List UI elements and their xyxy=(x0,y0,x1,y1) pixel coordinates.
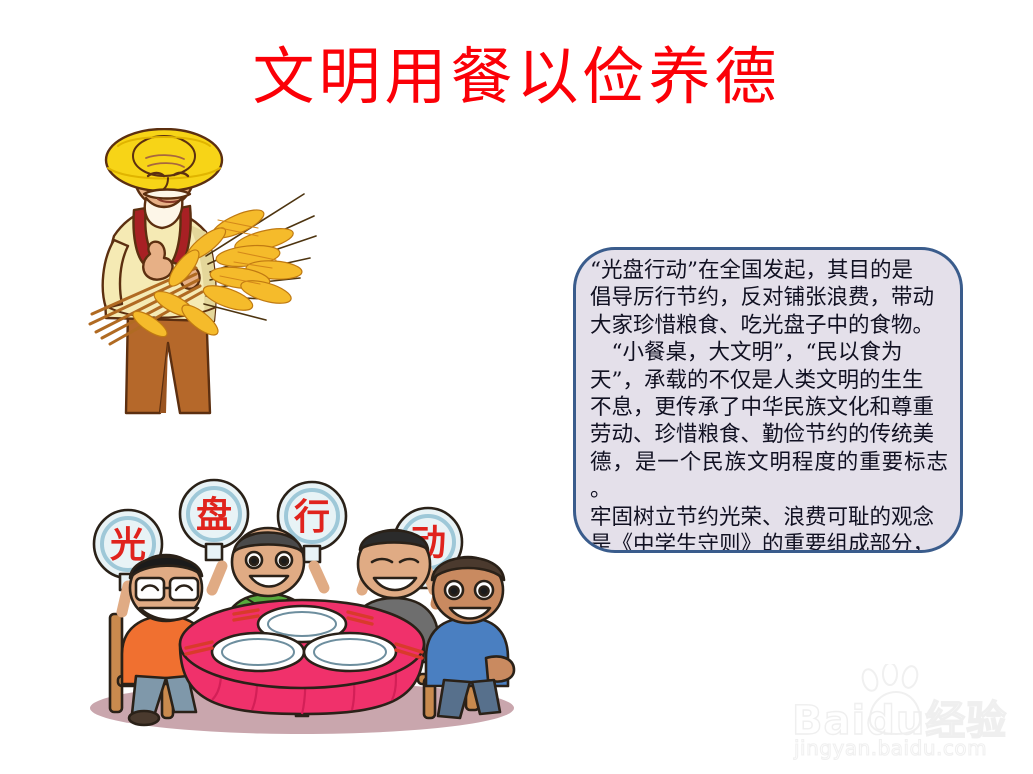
baidu-watermark: Baidu经验 jingyan.baidu.com xyxy=(784,664,1024,768)
watermark-url: jingyan.baidu.com xyxy=(794,736,987,760)
textbox-line: 不息，更传承了中华民族文化和尊重 xyxy=(590,394,948,421)
page-title: 文明用餐以俭养德 xyxy=(0,44,1033,110)
textbox-line: 牢固树立节约光荣、浪费可耻的观念 xyxy=(590,504,948,531)
textbox-line: 劳动、珍惜粮食、勤俭节约的传统美 xyxy=(590,421,948,448)
textbox-line: “小餐桌，大文明”，“民以食为 xyxy=(590,339,948,366)
textbox-line: 天”，承载的不仅是人类文明的生生 xyxy=(590,367,948,394)
textbox-line: 是《中学生守则》的重要组成部分， xyxy=(590,531,948,553)
watermark-brand: Baidu经验 xyxy=(792,688,1007,746)
farmer-illustration xyxy=(88,128,388,418)
textbox-line: 倡导厉行节约，反对铺张浪费，带动 xyxy=(590,284,948,311)
farmer-mustache xyxy=(144,190,190,199)
textbox-line: “光盘行动”在全国发起，其目的是 xyxy=(590,257,948,284)
textbox-line: 德，是一个民族文明程度的重要标志 。 xyxy=(590,449,948,504)
svg-text:盘: 盘 xyxy=(196,494,232,536)
slide-canvas: 文明用餐以俭养德 xyxy=(0,0,1033,774)
textbox-line: 大家珍惜粮食、吃光盘子中的食物。 xyxy=(590,312,948,339)
dining-table xyxy=(180,600,424,716)
body-textbox: “光盘行动”在全国发起，其目的是 倡导厉行节约，反对铺张浪费，带动 大家珍惜粮食… xyxy=(573,247,963,553)
svg-text:行: 行 xyxy=(294,496,330,538)
baidu-paw-icon xyxy=(784,664,1024,768)
svg-text:光: 光 xyxy=(110,524,146,566)
campaign-illustration: .ol{stroke:#2a2118;stroke-width:2.6;stro… xyxy=(62,462,532,734)
